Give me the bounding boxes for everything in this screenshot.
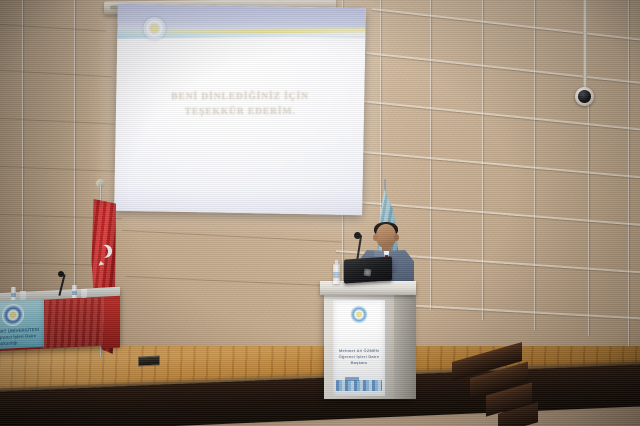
slide-text: BENİ DİNLEDİĞİNİZ İÇİN TEŞEKKÜR EDERİM.: [116, 90, 364, 121]
mic-arm: [58, 274, 65, 296]
laptop-logo-icon: [364, 269, 372, 277]
ear-left: [373, 234, 378, 241]
water-bottle: [333, 264, 340, 284]
mic-head-icon: [58, 271, 64, 277]
panel-table: SİİRT ÜNİVERSİTESİ Öğrenci İşleri Daire …: [0, 290, 120, 356]
lectern-panel-line-2: Öğrenci İşleri Daire Başkanı: [335, 354, 383, 366]
conference-hall-photo: BENİ DİNLEDİĞİNİZ İÇİN TEŞEKKÜR EDERİM.: [0, 0, 640, 426]
wall-seam-v: [22, 0, 23, 300]
table-skirt-right: [102, 300, 120, 349]
floor-outlet-box: [138, 355, 160, 366]
slide-line-1: BENİ DİNLEDİĞİNİZ İÇİN: [116, 90, 364, 106]
stage-stairs: [452, 352, 572, 426]
wall-seam-v: [430, 0, 431, 310]
wall-seam-v: [534, 0, 535, 330]
mic-arm: [356, 235, 362, 263]
wall-seam-v: [74, 0, 75, 300]
table-banner-text: SİİRT ÜNİVERSİTESİ Öğrenci İşleri Daire …: [0, 327, 43, 348]
water-bottle: [72, 285, 77, 298]
ear-right: [394, 234, 399, 241]
water-bottle: [11, 287, 16, 300]
gooseneck-microphone: [352, 235, 368, 265]
lectern: Mehmet Ali ÖZMEN Öğrenci İşleri Daire Ba…: [320, 281, 416, 399]
institution-emblem-icon: [351, 305, 368, 324]
drinking-glass: [81, 289, 87, 298]
camera-conduit: [583, 0, 587, 92]
lectern-front-panel: Mehmet Ali ÖZMEN Öğrenci İşleri Daire Ba…: [333, 300, 385, 396]
lectern-side-panel: [394, 294, 416, 399]
mic-head-icon: [354, 232, 361, 239]
sponsor-strip: [336, 380, 382, 391]
slide-line-2: TEŞEKKÜR EDERİM.: [116, 105, 364, 121]
drinking-glass: [20, 291, 26, 300]
wall-seam-v: [588, 96, 589, 336]
table-microphone: [55, 272, 69, 296]
table-banner-line-2: Öğrenci İşleri Daire Başkanlığı: [0, 333, 43, 348]
lectern-panel-text: Mehmet Ali ÖZMEN Öğrenci İşleri Daire Ba…: [335, 348, 383, 366]
security-camera-icon: [575, 87, 594, 106]
projection-screen: BENİ DİNLEDİĞİNİZ İÇİN TEŞEKKÜR EDERİM.: [114, 4, 366, 216]
table-drape-cloth: [42, 297, 104, 348]
wall-seam-v: [482, 0, 483, 320]
